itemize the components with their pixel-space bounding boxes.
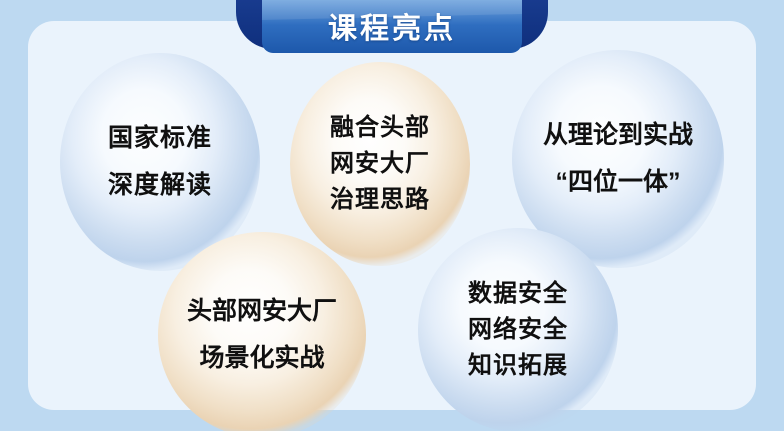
bubble-integrate-leading-vendor: 融合头部 网安大厂 治理思路 xyxy=(290,62,470,266)
bubble-line: 国家标准 xyxy=(108,121,212,157)
bubble-line: 从理论到实战 xyxy=(543,118,693,154)
bubble-line: 融合头部 xyxy=(330,111,430,145)
bubble-line: 深度解读 xyxy=(108,168,212,204)
bubble-line: 网络安全 xyxy=(468,313,568,347)
bubble-line: 场景化实战 xyxy=(199,341,324,377)
poster-title: 课程亮点 xyxy=(256,0,528,53)
bubble-scenario-practice: 头部网安大厂 场景化实战 xyxy=(158,232,366,431)
bubble-line: 数据安全 xyxy=(468,277,568,311)
bubble-line: 治理思路 xyxy=(330,183,430,217)
bubble-line: 网安大厂 xyxy=(330,147,430,181)
bubble-line: 知识拓展 xyxy=(468,349,568,383)
bubble-line: 头部网安大厂 xyxy=(187,294,337,330)
course-highlights-poster: 课程亮点 国家标准 深度解读 融合头部 网安大厂 治理思路 从理论到实战 “四位… xyxy=(0,0,784,431)
bubble-security-knowledge: 数据安全 网络安全 知识拓展 xyxy=(418,228,618,431)
bubble-line: “四位一体” xyxy=(555,165,680,201)
